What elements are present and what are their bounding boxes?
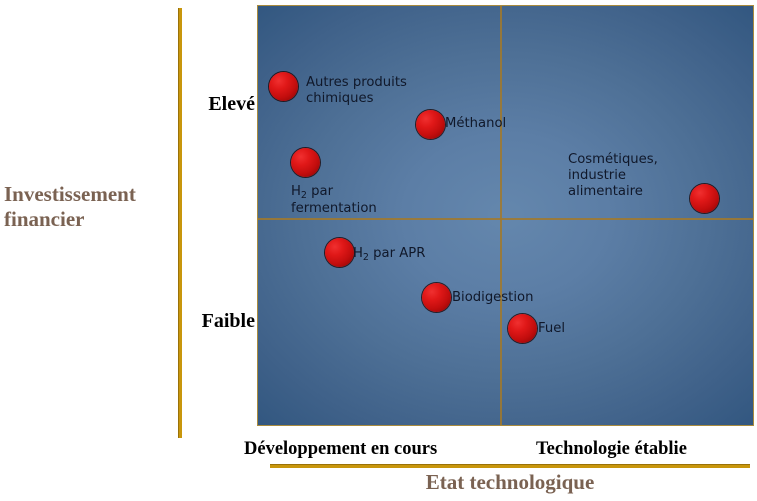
plot-area: Autres produitschimiques Méthanol H2 par… — [257, 5, 754, 426]
data-point-fuel[interactable] — [508, 314, 537, 343]
label-line-1: Fuel — [538, 321, 565, 336]
y-level-low-label: Faible — [135, 310, 255, 333]
label-line-1: Cosmétiques, — [568, 152, 658, 167]
y-level-high-label: Elevé — [135, 93, 255, 116]
data-label-methanol: Méthanol — [445, 116, 506, 132]
label-line-2: fermentation — [291, 201, 377, 216]
label-subscript-2: 2 — [301, 190, 307, 201]
data-label-cosmetiques-industrie-alimentaire: Cosmétiques,industriealimentaire — [568, 152, 658, 200]
data-label-fuel: Fuel — [538, 321, 565, 337]
data-point-methanol[interactable] — [416, 110, 445, 139]
label-h: H — [353, 246, 363, 261]
label-line-2: chimiques — [306, 91, 374, 106]
label-line-1: Autres produits — [306, 75, 407, 90]
data-label-autres-produits-chimiques: Autres produitschimiques — [306, 75, 407, 107]
y-axis-title: Investissement financier — [4, 182, 180, 232]
data-label-biodigestion: Biodigestion — [452, 290, 533, 306]
data-point-autres-produits-chimiques[interactable] — [269, 72, 298, 101]
chart-page: Investissement financier Etat technologi… — [0, 0, 757, 501]
data-point-biodigestion[interactable] — [422, 283, 451, 312]
data-point-h2-par-apr[interactable] — [325, 238, 354, 267]
label-line-1: Méthanol — [445, 116, 506, 131]
quadrant-divider-vertical — [500, 6, 502, 425]
label-line-1-rest: par — [307, 184, 333, 199]
label-line-1: Biodigestion — [452, 290, 533, 305]
x-category-right-label: Technologie établie — [536, 439, 687, 460]
data-point-cosmetiques-industrie-alimentaire[interactable] — [690, 184, 719, 213]
data-label-h2-par-apr: H2 par APR — [353, 246, 425, 263]
quadrant-divider-horizontal — [258, 218, 753, 220]
label-line-2: industrie — [568, 168, 626, 183]
label-subscript-2: 2 — [363, 252, 369, 263]
x-axis-title: Etat technologique — [270, 470, 750, 495]
label-line-3: alimentaire — [568, 184, 643, 199]
data-label-h2-par-fermentation: H2 parfermentation — [291, 184, 377, 217]
label-line-1-h: H — [291, 184, 301, 199]
x-axis-line — [270, 464, 750, 468]
label-rest: par APR — [369, 246, 425, 261]
x-category-left-label: Développement en cours — [244, 439, 437, 460]
data-point-h2-par-fermentation[interactable] — [291, 148, 320, 177]
